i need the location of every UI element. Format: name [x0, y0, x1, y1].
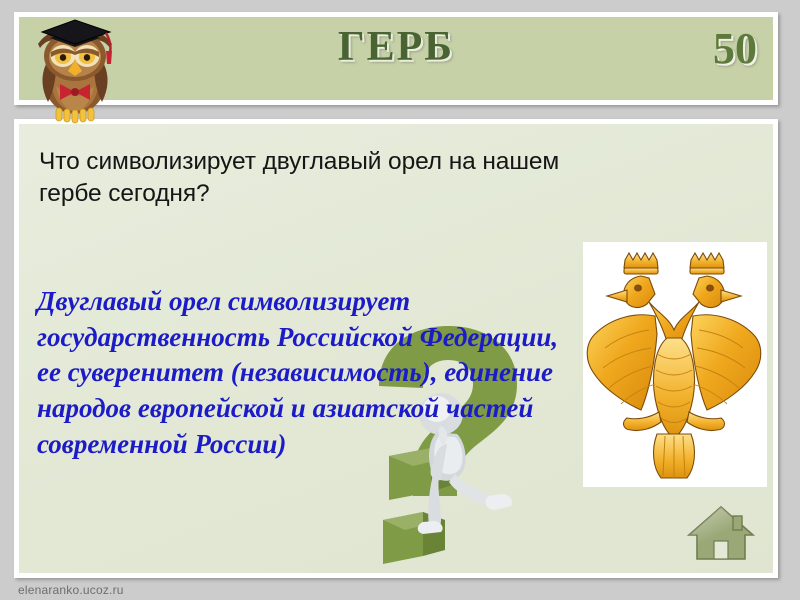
- double-headed-eagle-icon: [583, 242, 767, 487]
- header-panel: ГЕРБ 50: [14, 12, 778, 105]
- header-inner: ГЕРБ 50: [19, 17, 773, 100]
- owl-graduate-icon: [20, 2, 128, 124]
- answer-text: Двуглавый орел символизирует государстве…: [37, 284, 582, 462]
- watermark-text: elenaranko.ucoz.ru: [18, 583, 124, 597]
- content-inner: Что символизирует двуглавый орел на наше…: [19, 124, 773, 573]
- page-title: ГЕРБ: [19, 23, 773, 71]
- home-icon[interactable]: [685, 501, 757, 563]
- question-text: Что символизирует двуглавый орел на наше…: [39, 146, 579, 211]
- content-panel: Что символизирует двуглавый орел на наше…: [14, 119, 778, 578]
- score-badge: 50: [713, 23, 757, 74]
- slide-canvas: ГЕРБ 50: [0, 0, 800, 600]
